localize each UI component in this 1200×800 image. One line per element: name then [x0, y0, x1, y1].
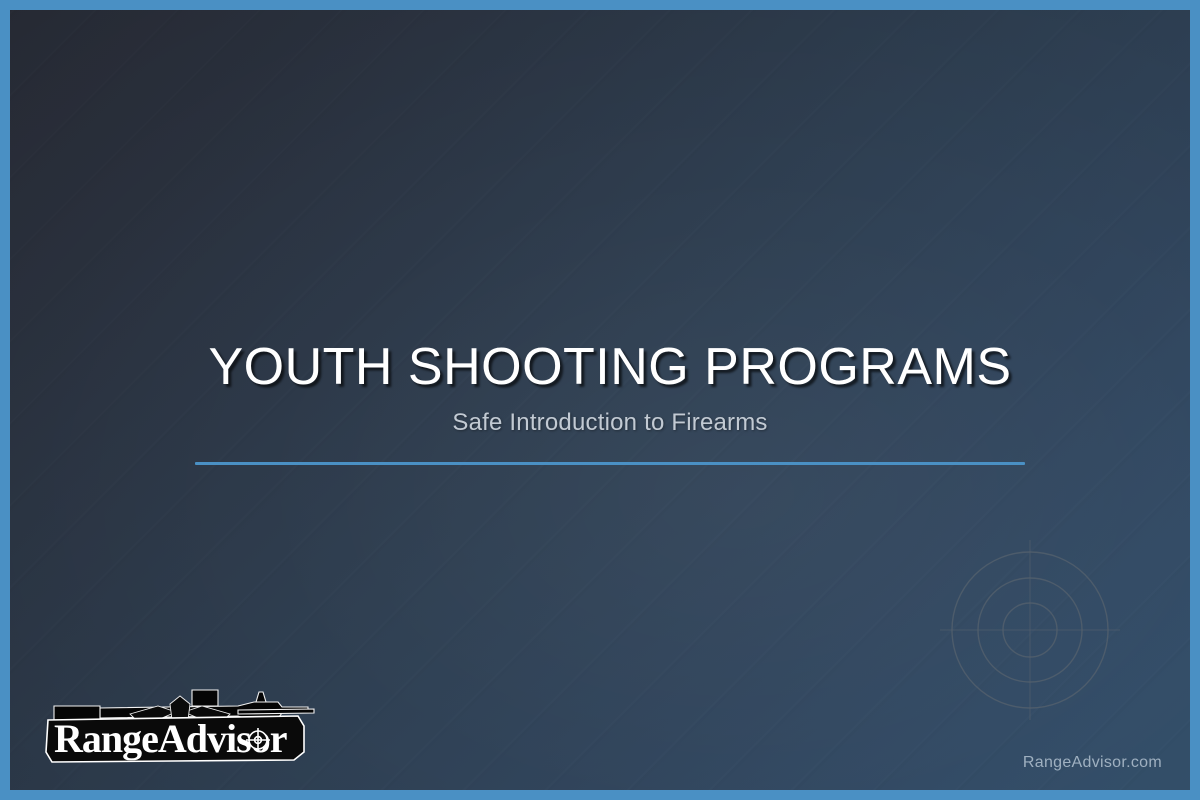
- page-title: YOUTH SHOOTING PROGRAMS: [10, 340, 1200, 395]
- brand-logo: RangeAdvisor: [42, 680, 318, 776]
- page-subtitle: Safe Introduction to Firearms: [10, 409, 1200, 437]
- title-slide: YOUTH SHOOTING PROGRAMS Safe Introductio…: [0, 0, 1200, 800]
- title-block: YOUTH SHOOTING PROGRAMS Safe Introductio…: [10, 340, 1200, 437]
- footer-url: RangeAdvisor.com: [1023, 754, 1162, 772]
- accent-divider: [195, 462, 1025, 465]
